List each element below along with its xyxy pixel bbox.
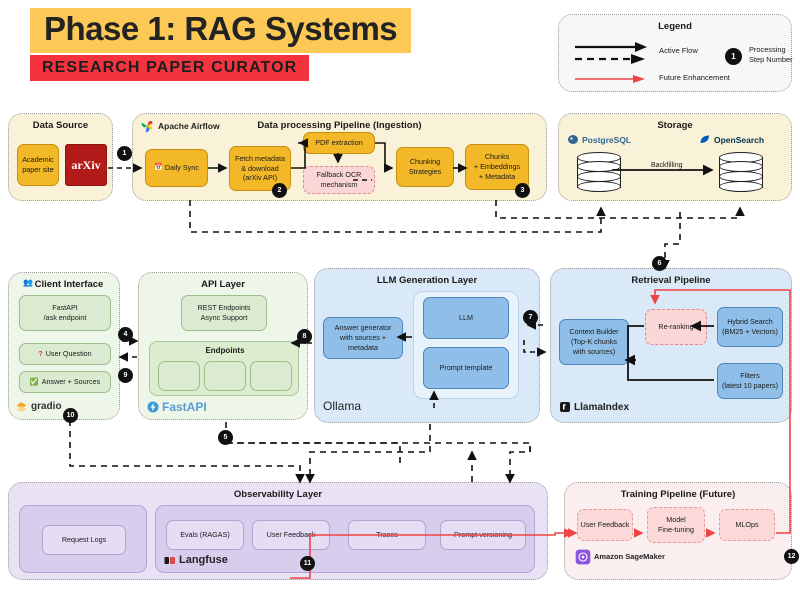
observability-panel: Observability Layer Request Logs Evals (… — [8, 482, 548, 580]
check-icon: ✅ — [30, 377, 39, 387]
node-user-question-label: User Question — [46, 349, 92, 359]
step-badge-3: 3 — [515, 183, 530, 198]
legend-solid-arrow-icon — [573, 41, 653, 53]
question-icon: ? — [38, 349, 42, 359]
node-pdf-extraction[interactable]: PDF extraction — [303, 132, 375, 154]
postgresql-database-icon — [577, 152, 621, 192]
postgresql-logo-icon — [567, 134, 579, 146]
node-prompt-versioning[interactable]: Prompt versioning — [440, 520, 526, 550]
step-badge-7: 7 — [523, 310, 538, 325]
llm-layer-title: LLM Generation Layer — [315, 275, 539, 286]
endpoints-group: Endpoints — [149, 341, 299, 396]
node-answer-sources[interactable]: ✅ Answer + Sources — [19, 371, 111, 393]
step-badge-6: 6 — [652, 256, 667, 271]
retrieval-title: Retrieval Pipeline — [551, 275, 791, 286]
llamaindex-brand: LlamaIndex — [559, 401, 629, 413]
node-user-feedback-observability[interactable]: User Feedback — [252, 520, 330, 550]
langfuse-logo-icon — [164, 555, 176, 566]
legend-red-arrow-icon — [573, 73, 653, 85]
legend-step-marker-label: Processing Step Number — [749, 45, 793, 65]
node-model-fine-tuning[interactable]: Model Fine-tuning — [647, 507, 705, 543]
node-context-builder[interactable]: Context Builder (Top-K chunks with sourc… — [559, 319, 629, 365]
ingestion-panel: Data processing Pipeline (Ingestion) Apa… — [132, 113, 547, 201]
storage-panel: Storage PostgreSQL OpenSearch — [558, 113, 792, 201]
node-answer-generator[interactable]: Answer generator with sources + metadata — [323, 317, 403, 359]
legend-item-active-flow-label: Active Flow — [659, 46, 698, 55]
step-badge-4: 4 — [118, 327, 133, 342]
node-fastapi-ask-endpoint[interactable]: FastAPI /ask endpoint — [19, 295, 111, 331]
node-mlops[interactable]: MLOps — [719, 509, 775, 541]
sagemaker-logo-icon — [575, 549, 591, 565]
client-interface-panel: Client Interface 👥 FastAPI /ask endpoint… — [8, 272, 120, 420]
node-llm[interactable]: LLM — [423, 297, 509, 339]
legend-title: Legend — [559, 21, 791, 32]
node-re-ranking[interactable]: Re-ranking — [645, 309, 707, 345]
node-fallback-ocr[interactable]: Fallback OCR mechanism — [303, 166, 375, 194]
endpoint-slot-1[interactable] — [158, 361, 200, 391]
sagemaker-brand: Amazon SageMaker — [575, 549, 665, 565]
llamaindex-logo-icon — [559, 401, 571, 413]
request-logs-group: Request Logs — [19, 505, 147, 573]
step-badge-11: 11 — [300, 556, 315, 571]
step-badge-1: 1 — [117, 146, 132, 161]
step-badge-10: 10 — [63, 408, 78, 423]
fastapi-logo-icon — [147, 401, 159, 413]
fastapi-label: FastAPI — [162, 400, 207, 414]
langfuse-brand: Langfuse — [164, 554, 228, 566]
data-source-panel: Data Source Academic paper site arXiv — [8, 113, 113, 201]
node-chunking-strategies[interactable]: Chunking Strategies — [396, 147, 454, 187]
postgresql-label: PostgreSQL — [582, 135, 631, 145]
node-daily-sync-label: Daily Sync — [165, 163, 199, 173]
opensearch-label: OpenSearch — [714, 135, 764, 145]
page-title: Phase 1: RAG Systems — [30, 8, 411, 53]
llamaindex-label: LlamaIndex — [574, 402, 629, 413]
legend-dashed-arrow-icon — [573, 53, 653, 65]
opensearch-brand: OpenSearch — [699, 134, 764, 146]
legend-step-marker-icon: 1 — [725, 48, 742, 65]
llm-layer-panel: LLM Generation Layer Answer generator wi… — [314, 268, 540, 423]
fastapi-brand: FastAPI — [147, 400, 207, 414]
step-badge-9: 9 — [118, 368, 133, 383]
node-evals-ragas[interactable]: Evals (RAGAS) — [166, 520, 244, 550]
legend-item-future-enhancement-label: Future Enhancement — [659, 73, 730, 82]
langfuse-label: Langfuse — [179, 554, 228, 566]
data-source-title: Data Source — [9, 120, 112, 131]
legend-panel: Legend Active Flow Future Enhancement 1 … — [558, 14, 792, 92]
page-subtitle: RESEARCH PAPER CURATOR — [30, 55, 309, 81]
node-hybrid-search[interactable]: Hybrid Search (BM25 + Vectors) — [717, 307, 783, 347]
step-badge-2: 2 — [272, 183, 287, 198]
node-filters[interactable]: Filters (latest 10 papers) — [717, 363, 783, 399]
node-request-logs[interactable]: Request Logs — [42, 525, 126, 555]
api-layer-panel: API Layer REST Endpoints Async Support E… — [138, 272, 308, 420]
calendar-icon: 📅 — [154, 163, 163, 172]
sagemaker-label: Amazon SageMaker — [594, 553, 665, 562]
node-daily-sync[interactable]: 📅 Daily Sync — [145, 149, 208, 187]
langfuse-group: Evals (RAGAS) User Feedback Traces Promp… — [155, 505, 535, 573]
storage-title: Storage — [559, 120, 791, 131]
endpoint-slot-3[interactable] — [250, 361, 292, 391]
node-academic-paper-site[interactable]: Academic paper site — [17, 144, 59, 186]
training-panel: Training Pipeline (Future) User Feedback… — [564, 482, 792, 580]
storage-edge-label: Backfilling — [651, 162, 683, 169]
observability-title: Observability Layer — [9, 489, 547, 500]
node-rest-endpoints[interactable]: REST Endpoints Async Support — [181, 295, 267, 331]
opensearch-logo-icon — [699, 134, 711, 146]
airflow-brand-label: Apache Airflow — [158, 122, 220, 131]
gradio-label: gradio — [31, 401, 62, 412]
node-user-feedback-training[interactable]: User Feedback — [577, 509, 633, 541]
postgresql-brand: PostgreSQL — [567, 134, 631, 146]
node-user-question[interactable]: ? User Question — [19, 343, 111, 365]
opensearch-database-icon — [719, 152, 763, 192]
endpoints-group-label: Endpoints — [150, 346, 300, 355]
users-icon: 👥 — [23, 278, 33, 287]
node-answer-sources-label: Answer + Sources — [42, 377, 101, 387]
airflow-brand: Apache Airflow — [139, 118, 220, 134]
diagram-canvas: Phase 1: RAG Systems RESEARCH PAPER CURA… — [0, 0, 800, 600]
api-layer-title: API Layer — [139, 279, 307, 290]
step-badge-5: 5 — [218, 430, 233, 445]
node-traces[interactable]: Traces — [348, 520, 426, 550]
airflow-logo-icon — [139, 118, 155, 134]
step-badge-8: 8 — [297, 329, 312, 344]
endpoint-slot-2[interactable] — [204, 361, 246, 391]
ollama-brand: Ollama — [323, 399, 361, 413]
node-prompt-template[interactable]: Prompt template — [423, 347, 509, 389]
step-badge-12: 12 — [784, 549, 799, 564]
retrieval-panel: Retrieval Pipeline Context Builder (Top-… — [550, 268, 792, 423]
gradio-logo-icon — [15, 400, 28, 413]
arxiv-logo-icon: arXiv — [65, 144, 107, 186]
gradio-brand: gradio — [15, 400, 62, 413]
training-title: Training Pipeline (Future) — [565, 489, 791, 500]
